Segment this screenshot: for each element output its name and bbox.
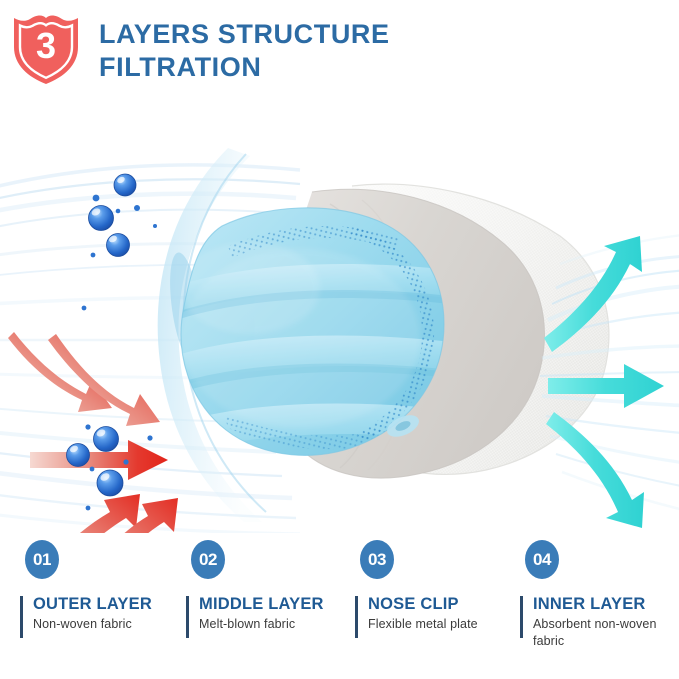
page-title: LAYERS STRUCTURE FILTRATION <box>99 18 569 84</box>
legend-item-inner-layer[interactable]: 04 INNER LAYER Absorbent non-woven fabri… <box>520 540 679 650</box>
number-badge-03-text: 03 <box>360 540 394 579</box>
title-line-2: FILTRATION <box>99 51 569 84</box>
legend-body-01: OUTER LAYER Non-woven fabric <box>20 594 185 633</box>
legend-subtitle-03: Flexible metal plate <box>368 616 520 633</box>
legend-title-04: INNER LAYER <box>533 594 679 614</box>
legend-accent-bar <box>355 596 358 638</box>
shield-icon: 3 <box>9 11 83 87</box>
red-arrows <box>8 332 178 533</box>
legend-body-02: MIDDLE LAYER Melt-blown fabric <box>186 594 354 633</box>
legend-subtitle-01: Non-woven fabric <box>33 616 185 633</box>
number-badge-02-text: 02 <box>191 540 225 579</box>
legend-accent-bar <box>20 596 23 638</box>
legend-title-02: MIDDLE LAYER <box>199 594 354 614</box>
legend-item-middle-layer[interactable]: 02 MIDDLE LAYER Melt-blown fabric <box>186 540 354 633</box>
legend: 01 OUTER LAYER Non-woven fabric 02 MIDDL… <box>0 540 679 679</box>
shield-number: 3 <box>9 11 83 87</box>
number-badge-01-text: 01 <box>25 540 59 579</box>
title-line-1: LAYERS STRUCTURE <box>99 18 569 51</box>
legend-subtitle-02: Melt-blown fabric <box>199 616 354 633</box>
header: 3 LAYERS STRUCTURE FILTRATION <box>0 0 679 110</box>
mask-illustration <box>0 108 679 533</box>
legend-body-03: NOSE CLIP Flexible metal plate <box>355 594 520 633</box>
number-badge-04-text: 04 <box>525 540 559 579</box>
number-badge-02: 02 <box>191 540 225 579</box>
legend-title-01: OUTER LAYER <box>33 594 185 614</box>
legend-subtitle-04: Absorbent non-woven fabric <box>533 616 679 650</box>
infographic-page: 3 LAYERS STRUCTURE FILTRATION <box>0 0 679 679</box>
legend-item-nose-clip[interactable]: 03 NOSE CLIP Flexible metal plate <box>355 540 520 633</box>
legend-body-04: INNER LAYER Absorbent non-woven fabric <box>520 594 679 650</box>
legend-title-03: NOSE CLIP <box>368 594 520 614</box>
number-badge-04: 04 <box>525 540 559 579</box>
legend-accent-bar <box>186 596 189 638</box>
number-badge-03: 03 <box>360 540 394 579</box>
legend-item-outer-layer[interactable]: 01 OUTER LAYER Non-woven fabric <box>20 540 185 633</box>
legend-accent-bar <box>520 596 523 638</box>
number-badge-01: 01 <box>25 540 59 579</box>
